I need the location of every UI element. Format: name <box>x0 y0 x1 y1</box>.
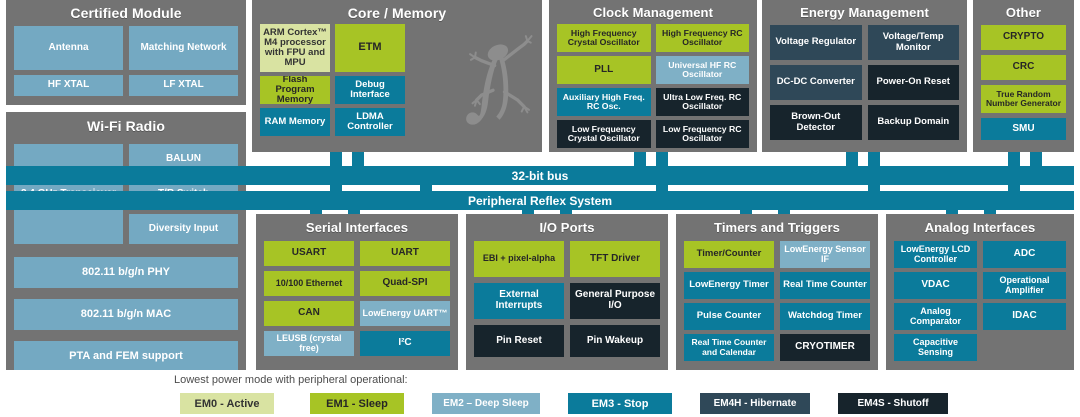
legend-item-em0: EM0 - Active <box>180 393 274 414</box>
panel-title-io-ports: I/O Ports <box>466 214 668 235</box>
block-usart[interactable]: USART <box>264 241 354 266</box>
legend-item-em4s: EM4S - Shutoff <box>838 393 948 414</box>
block-lowenergy-sensor-if[interactable]: LowEnergy Sensor IF <box>780 241 870 268</box>
block-arm-cortex-m4[interactable]: ARM Cortex™ M4 processor with FPU and MP… <box>260 24 330 72</box>
bus-stub-top-2 <box>352 152 364 166</box>
block-grid-other: CRYPTO CRC True Random Number Generator … <box>981 25 1066 140</box>
block-lf-crystal-oscillator[interactable]: Low Frequency Crystal Oscillator <box>557 120 651 148</box>
bus-stub-top-7 <box>1008 152 1020 166</box>
block-grid-core-memory: ARM Cortex™ M4 processor with FPU and MP… <box>260 24 405 136</box>
panel-title-energy-management: Energy Management <box>762 0 967 20</box>
block-debug-interface[interactable]: Debug Interface <box>335 76 405 104</box>
panel-timers-and-triggers: Timers and Triggers Timer/Counter LowEne… <box>676 214 878 370</box>
block-ultra-low-freq-rc-oscillator[interactable]: Ultra Low Freq. RC Oscillator <box>656 88 750 116</box>
block-80211-mac[interactable]: 802.11 b/g/n MAC <box>14 299 238 330</box>
panel-title-wifi-radio: Wi-Fi Radio <box>6 112 246 134</box>
block-crypto[interactable]: CRYPTO <box>981 25 1066 50</box>
block-operational-amplifier[interactable]: Operational Amplifier <box>983 272 1066 299</box>
bus-stub-top-6 <box>868 152 880 166</box>
block-smu[interactable]: SMU <box>981 118 1066 140</box>
block-hf-rc-oscillator[interactable]: High Frequency RC Oscillator <box>656 24 750 52</box>
block-grid-clock-management: High Frequency Crystal Oscillator High F… <box>557 24 749 148</box>
block-tft-driver[interactable]: TFT Driver <box>570 241 660 277</box>
bus-stub-top-1 <box>330 152 342 166</box>
panel-core-memory: Core / Memory <box>252 0 542 152</box>
block-pll[interactable]: PLL <box>557 56 651 84</box>
block-brown-out-detector[interactable]: Brown-Out Detector <box>770 105 862 140</box>
block-general-purpose-io[interactable]: General Purpose I/O <box>570 283 660 319</box>
bus-stub-top-5 <box>846 152 858 166</box>
block-grid-timers-and-triggers: Timer/Counter LowEnergy Sensor IF LowEne… <box>684 241 870 361</box>
block-grid-certified-module: Antenna Matching Network HF XTAL LF XTAL <box>14 26 238 96</box>
block-capacitive-sensing[interactable]: Capacitive Sensing <box>894 334 977 361</box>
legend-item-em4h: EM4H - Hibernate <box>700 393 810 414</box>
panel-title-clock-management: Clock Management <box>549 0 757 20</box>
block-true-random-number-generator[interactable]: True Random Number Generator <box>981 85 1066 113</box>
block-etm[interactable]: ETM <box>335 24 405 72</box>
block-lf-rc-oscillator[interactable]: Low Frequency RC Oscillator <box>656 120 750 148</box>
block-quad-spi[interactable]: Quad-SPI <box>360 271 450 296</box>
panel-title-certified-module: Certified Module <box>6 0 246 21</box>
block-cryotimer[interactable]: CRYOTIMER <box>780 334 870 361</box>
bus-stub-top-4 <box>656 152 668 166</box>
block-can[interactable]: CAN <box>264 301 354 326</box>
panel-energy-management: Energy Management Voltage Regulator Volt… <box>762 0 967 152</box>
panel-serial-interfaces: Serial Interfaces USART UART 10/100 Ethe… <box>256 214 458 370</box>
block-uart[interactable]: UART <box>360 241 450 266</box>
block-timer-counter[interactable]: Timer/Counter <box>684 241 774 268</box>
block-power-on-reset[interactable]: Power-On Reset <box>868 65 960 100</box>
block-voltage-temp-monitor[interactable]: Voltage/Temp Monitor <box>868 25 960 60</box>
block-real-time-counter[interactable]: Real Time Counter <box>780 272 870 299</box>
panel-analog-interfaces: Analog Interfaces LowEnergy LCD Controll… <box>886 214 1074 370</box>
block-pulse-counter[interactable]: Pulse Counter <box>684 303 774 330</box>
block-80211-phy[interactable]: 802.11 b/g/n PHY <box>14 257 238 288</box>
block-grid-serial-interfaces: USART UART 10/100 Ethernet Quad-SPI CAN … <box>264 241 450 356</box>
legend-item-em3: EM3 - Stop <box>568 393 672 414</box>
block-grid-energy-management: Voltage Regulator Voltage/Temp Monitor D… <box>770 25 959 140</box>
block-voltage-regulator[interactable]: Voltage Regulator <box>770 25 862 60</box>
block-analog-comparator[interactable]: Analog Comparator <box>894 303 977 330</box>
block-adc[interactable]: ADC <box>983 241 1066 268</box>
block-external-interrupts[interactable]: External Interrupts <box>474 283 564 319</box>
block-auxiliary-hf-rc-osc[interactable]: Auxiliary High Freq. RC Osc. <box>557 88 651 116</box>
panel-other: Other CRYPTO CRC True Random Number Gene… <box>973 0 1074 152</box>
block-real-time-counter-and-calendar[interactable]: Real Time Counter and Calendar <box>684 334 774 361</box>
block-matching-network[interactable]: Matching Network <box>129 26 238 70</box>
block-ram-memory[interactable]: RAM Memory <box>260 108 330 136</box>
block-hf-xtal[interactable]: HF XTAL <box>14 75 123 96</box>
gecko-logo <box>452 22 534 142</box>
panel-title-timers-and-triggers: Timers and Triggers <box>676 214 878 235</box>
block-watchdog-timer[interactable]: Watchdog Timer <box>780 303 870 330</box>
panel-clock-management: Clock Management High Frequency Crystal … <box>549 0 757 152</box>
block-grid-io-ports: EBI + pixel-alpha TFT Driver External In… <box>474 241 660 357</box>
block-hf-crystal-oscillator[interactable]: High Frequency Crystal Oscillator <box>557 24 651 52</box>
block-pta-fem-support[interactable]: PTA and FEM support <box>14 341 238 370</box>
bus-stub-top-3 <box>634 152 646 166</box>
block-diversity-input[interactable]: Diversity Input <box>129 214 238 244</box>
block-pin-wakeup[interactable]: Pin Wakeup <box>570 325 660 357</box>
legend-item-em2: EM2 – Deep Sleep <box>432 393 540 414</box>
legend-row: EM0 - Active EM1 - Sleep EM2 – Deep Slee… <box>180 393 948 414</box>
panel-wifi-radio: Wi-Fi Radio BALUN 2.4 GHz Transciever T/… <box>6 112 246 370</box>
block-i2c[interactable]: I²C <box>360 331 450 356</box>
panel-title-core-memory: Core / Memory <box>252 0 542 21</box>
block-lf-xtal[interactable]: LF XTAL <box>129 75 238 96</box>
block-dc-dc-converter[interactable]: DC-DC Converter <box>770 65 862 100</box>
block-ldma-controller[interactable]: LDMA Controller <box>335 108 405 136</box>
block-10-100-ethernet[interactable]: 10/100 Ethernet <box>264 271 354 296</box>
block-backup-domain[interactable]: Backup Domain <box>868 105 960 140</box>
block-vdac[interactable]: VDAC <box>894 272 977 299</box>
panel-certified-module: Certified Module Antenna Matching Networ… <box>6 0 246 105</box>
block-lowenergy-lcd-controller[interactable]: LowEnergy LCD Controller <box>894 241 977 268</box>
block-lowenergy-uart[interactable]: LowEnergy UART™ <box>360 301 450 326</box>
block-leusb[interactable]: LEUSB (crystal free) <box>264 331 354 356</box>
block-crc[interactable]: CRC <box>981 55 1066 80</box>
bus-32-bit: 32-bit bus <box>6 166 1074 185</box>
legend-item-em1: EM1 - Sleep <box>310 393 404 414</box>
panel-title-other: Other <box>973 0 1074 20</box>
legend-caption: Lowest power mode with peripheral operat… <box>174 374 408 386</box>
block-flash-program-memory[interactable]: Flash Program Memory <box>260 76 330 104</box>
block-idac[interactable]: IDAC <box>983 303 1066 330</box>
block-ebi-pixel-alpha[interactable]: EBI + pixel-alpha <box>474 241 564 277</box>
panel-title-analog-interfaces: Analog Interfaces <box>886 214 1074 235</box>
block-pin-reset[interactable]: Pin Reset <box>474 325 564 357</box>
block-grid-wifi-lower: 802.11 b/g/n PHY 802.11 b/g/n MAC PTA an… <box>14 257 238 370</box>
block-lowenergy-timer[interactable]: LowEnergy Timer <box>684 272 774 299</box>
block-antenna[interactable]: Antenna <box>14 26 123 70</box>
block-universal-hf-rc-oscillator[interactable]: Universal HF RC Oscillator <box>656 56 750 84</box>
bus-stub-top-8 <box>1030 152 1042 166</box>
block-grid-analog-interfaces: LowEnergy LCD Controller ADC VDAC Operat… <box>894 241 1066 361</box>
panel-title-serial-interfaces: Serial Interfaces <box>256 214 458 235</box>
bus-peripheral-reflex-system: Peripheral Reflex System <box>6 191 1074 210</box>
panel-io-ports: I/O Ports EBI + pixel-alpha TFT Driver E… <box>466 214 668 370</box>
